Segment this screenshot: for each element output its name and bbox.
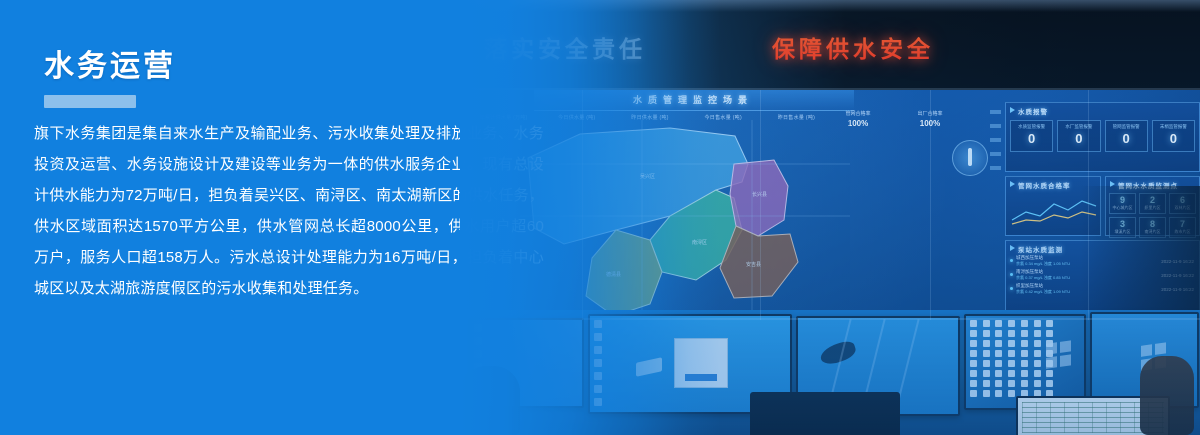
panel-title: 水质报警 <box>1006 103 1199 116</box>
alarm-card-value: 0 <box>1028 131 1035 146</box>
desktop-icon <box>983 340 990 347</box>
desktop-icon <box>1034 360 1041 367</box>
water-operations-banner: 落实安全责任 保障供水安全 水质管理监控场景 年累计供水量 (万吨) 今日供水量… <box>0 0 1200 435</box>
alarm-card-value: 0 <box>1075 131 1082 146</box>
desktop-icon <box>995 390 1002 397</box>
desktop-icon <box>995 330 1002 337</box>
desktop-icon <box>1034 370 1041 377</box>
alarm-card-label: 管网监管报警 <box>1106 123 1147 130</box>
desktop-icon <box>970 390 977 397</box>
desktop-icon <box>1046 380 1053 387</box>
desktop-icon <box>594 372 602 380</box>
desktop-icon <box>995 360 1002 367</box>
desktop-icon <box>1034 350 1041 357</box>
desktop-icon <box>1021 360 1028 367</box>
desktop-icon <box>970 320 977 327</box>
rail-tick <box>990 152 1001 156</box>
desktop-icon <box>1021 380 1028 387</box>
desktop-icon <box>995 350 1002 357</box>
desktop-icon <box>1008 390 1015 397</box>
desktop-icon <box>594 320 602 328</box>
district-map: 吴兴区 南浔区 德清县 长兴县 安吉县 <box>520 120 850 320</box>
desktop-icon <box>1021 370 1028 377</box>
desktop-icon <box>983 330 990 337</box>
dashboard-left-rail <box>988 104 1002 320</box>
desktop-icon <box>1008 360 1015 367</box>
desktop-icon <box>970 330 977 337</box>
desktop-icon <box>1008 370 1015 377</box>
led-wall-dark-corner <box>1000 0 1200 96</box>
desktop-icon <box>1034 380 1041 387</box>
desktop-icon <box>1008 320 1015 327</box>
log-metrics: 余氯 0.34 mg/L 浊度 1.05 NTU <box>1016 261 1070 267</box>
map-label: 长兴县 <box>752 191 767 198</box>
desktop-icon <box>1046 330 1053 337</box>
desktop-icon <box>594 333 602 341</box>
alarm-card[interactable]: 水厂监管报警 0 <box>1057 120 1100 152</box>
rail-tick <box>990 110 1001 114</box>
desktop-icon <box>1008 330 1015 337</box>
dashboard-screen: 水质管理监控场景 年累计供水量 (万吨) 今日供水量 (吨) 昨日供水量 (吨)… <box>460 90 1200 320</box>
desktop-icon <box>995 370 1002 377</box>
rate-label: 出厂合格率 <box>917 111 942 117</box>
desktop-icon <box>1021 320 1028 327</box>
log-metrics: 余氯 0.42 mg/L 浊度 1.09 NTU <box>1016 289 1070 295</box>
alarm-card-value: 0 <box>1170 131 1177 146</box>
alarm-card-label: 水厂监管报警 <box>1058 123 1099 130</box>
map-label: 德清县 <box>606 271 621 278</box>
title-underline <box>44 95 136 108</box>
desktop-icon <box>594 359 602 367</box>
body-paragraph: 旗下水务集团是集自来水生产及输配业务、污水收集处理及排放业务、水务投资及运营、水… <box>34 118 544 304</box>
alarm-card[interactable]: 管网监管报警 0 <box>1105 120 1148 152</box>
desktop-icon <box>970 340 977 347</box>
laptop-dark <box>750 392 900 435</box>
desktop-icon <box>970 380 977 387</box>
desktop-icon-grid <box>970 320 1056 397</box>
compass-gauge <box>952 140 988 176</box>
desktop-icon <box>1021 340 1028 347</box>
alarm-card[interactable]: 末梢监管报警 0 <box>1152 120 1195 152</box>
alarm-card-label: 末梢监管报警 <box>1153 123 1194 130</box>
desktop-icon <box>1046 320 1053 327</box>
map-label: 南浔区 <box>692 239 707 246</box>
desktop-icon <box>594 398 602 406</box>
desktop-icon <box>1034 320 1041 327</box>
desktop-icon <box>970 350 977 357</box>
alarm-card-value: 0 <box>1123 131 1130 146</box>
desktop-icon <box>1008 340 1015 347</box>
desktop-icon <box>970 360 977 367</box>
alarm-card-label: 水质监管报警 <box>1011 123 1052 130</box>
desktop-icon <box>594 346 602 354</box>
desktop-icon <box>983 320 990 327</box>
alarm-card-list: 水质监管报警 0 水厂监管报警 0 管网监管报警 0 末梢监管报警 0 <box>1006 116 1199 152</box>
desktop-icon <box>970 370 977 377</box>
windows-logo-icon <box>636 357 662 377</box>
map-label: 安吉县 <box>746 261 761 268</box>
desktop-icon <box>1021 330 1028 337</box>
desktop-icon <box>995 320 1002 327</box>
desktop-icon <box>983 370 990 377</box>
rail-tick <box>990 166 1001 170</box>
desktop-icon <box>1046 370 1053 377</box>
rail-tick <box>990 124 1001 128</box>
control-room-photo: 落实安全责任 保障供水安全 水质管理监控场景 年累计供水量 (万吨) 今日供水量… <box>460 0 1200 435</box>
desktop-icon <box>1021 350 1028 357</box>
desktop-icon <box>983 390 990 397</box>
desktop-icon <box>1008 350 1015 357</box>
alarm-card[interactable]: 水质监管报警 0 <box>1010 120 1053 152</box>
rate-label: 管网合格率 <box>845 111 870 117</box>
desktop-icon <box>1008 380 1015 387</box>
map-label: 吴兴区 <box>640 173 655 180</box>
desktop-icon <box>983 360 990 367</box>
desktop-icon <box>983 380 990 387</box>
log-metrics: 余氯 0.37 mg/L 浊度 0.85 NTU <box>1016 275 1070 281</box>
desktop-icon <box>995 380 1002 387</box>
desktop-icon-column <box>594 320 604 406</box>
led-wall-band: 落实安全责任 保障供水安全 <box>460 0 1200 96</box>
panel-water-quality-alarm[interactable]: 水质报警 水质监管报警 0 水厂监管报警 0 管网监管报警 0 <box>1005 102 1200 172</box>
dashboard-title: 水质管理监控场景 <box>568 93 818 106</box>
rate-plant: 出厂合格率 100% <box>900 110 960 128</box>
slogan-right: 保障供水安全 <box>772 30 934 64</box>
text-panel: 水务运营 旗下水务集团是集自来水生产及输配业务、污水收集处理及排放业务、水务投资… <box>0 0 560 435</box>
login-dialog <box>674 338 728 388</box>
desktop-icon <box>1034 340 1041 347</box>
desktop-icon <box>995 340 1002 347</box>
desktop-icon <box>594 385 602 393</box>
person-silhouette <box>1140 356 1194 435</box>
desktop-icon <box>983 350 990 357</box>
dashboard-right-shadow <box>1080 186 1200 320</box>
rail-tick <box>990 138 1001 142</box>
rate-value: 100% <box>900 119 960 128</box>
windows-logo-icon <box>1046 340 1072 370</box>
page-title: 水务运营 <box>44 52 176 82</box>
desktop-icon <box>1034 330 1041 337</box>
